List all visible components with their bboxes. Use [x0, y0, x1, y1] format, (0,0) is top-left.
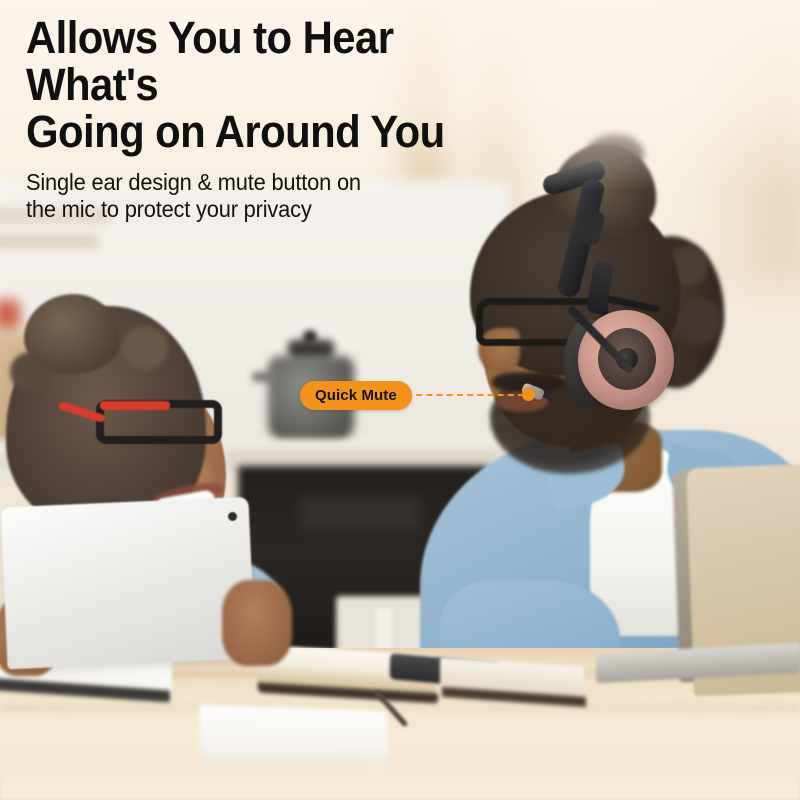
oven-window: [300, 496, 420, 530]
quick-mute-badge: Quick Mute: [300, 381, 412, 410]
headline: Allows You to Hear What's Going on Aroun…: [26, 14, 510, 155]
child-hand-right: [222, 580, 292, 666]
product-feature-banner: Quick Mute Allows You to Hear What's Goi…: [0, 0, 800, 800]
callout-target-dot: [522, 388, 535, 401]
man-hair-bun: [552, 144, 656, 240]
desk-grain-line-2: [0, 706, 800, 710]
subheadline: Single ear design & mute button on the m…: [26, 169, 520, 223]
tablet-camera: [228, 512, 237, 521]
man-hair-curl-b: [676, 298, 722, 344]
child-eyeglasses-accent: [100, 401, 170, 410]
marketing-text-block: Allows You to Hear What's Going on Aroun…: [26, 14, 546, 223]
child-hair-bun: [24, 294, 120, 374]
callout-connector-line: [406, 394, 524, 396]
tablet-device: [1, 497, 256, 670]
child-hair-curl-right: [122, 326, 168, 370]
quick-mute-label: Quick Mute: [315, 387, 397, 404]
kettle-knob: [303, 330, 317, 344]
desk-front-edge: [0, 752, 800, 800]
kitchen-shelf-lower: [0, 236, 98, 248]
